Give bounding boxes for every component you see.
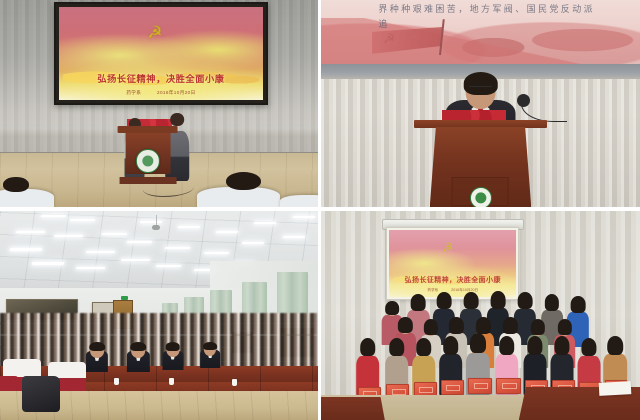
papers-on-desk	[598, 382, 631, 396]
group-member-hair	[558, 319, 572, 335]
ceiling-light	[283, 236, 306, 238]
group-member-hair	[491, 291, 506, 309]
group-member-hair	[607, 336, 623, 355]
podium	[421, 120, 539, 207]
group-member-hair	[449, 317, 463, 333]
slide-subtitle: 药学系 2016年10月20日	[71, 90, 250, 96]
ceiling-light	[101, 233, 127, 235]
group-member-hair	[470, 333, 486, 353]
group-member-hair	[503, 317, 517, 333]
photo-collage: ☭ 弘扬长征精神，决胜全面小康 药学系 2016年10月20日	[0, 0, 640, 420]
group-member-hair	[476, 317, 490, 333]
slide-organizer: 药学系	[126, 90, 141, 95]
foreground-head-right	[226, 172, 261, 190]
group-member-hair	[555, 336, 570, 355]
front-row-person	[200, 343, 220, 368]
group-member-hair	[582, 338, 597, 356]
group-member-hair	[518, 292, 533, 309]
projection-screen: ☭ 弘扬长征精神，决胜全面小康 药学系 2016年10月20日	[386, 227, 519, 300]
panel-auditorium-audience	[0, 211, 318, 420]
ceiling-projector	[149, 215, 162, 229]
group-member-hair	[411, 294, 426, 310]
ceiling-light	[9, 248, 42, 251]
ceiling-light	[127, 241, 153, 243]
hammer-sickle-icon: ☭	[383, 33, 395, 46]
ceiling-light	[178, 226, 201, 228]
slide-headline: 弘扬长征精神，决胜全面小康	[396, 275, 510, 285]
ceiling-light	[76, 267, 105, 269]
group-member-hair	[530, 319, 544, 335]
group-member-hair	[416, 338, 432, 356]
panel-speaker-close-up: ☭ ★ 界种种艰难困苦，地方军阀、国民党反动派 追	[321, 0, 640, 207]
paper-cup	[114, 378, 119, 385]
backpack	[22, 376, 60, 412]
slide-text-line-1: 界种种艰难困苦，地方军阀、国民党反动派	[378, 2, 640, 15]
slide-long-march: ☭ 弘扬长征精神，决胜全面小康 药学系 2016年10月20日	[59, 7, 263, 100]
foreground-seat-right	[197, 187, 280, 207]
seat-headrest	[3, 359, 41, 376]
exit-sign-icon	[121, 296, 129, 300]
foreground-audience	[0, 172, 318, 207]
foreground-head-left	[3, 177, 28, 192]
ceiling-light	[156, 265, 182, 267]
front-desk-left	[321, 397, 385, 420]
group-member-hair	[499, 336, 515, 355]
ceiling-light	[70, 219, 96, 221]
slide-headline: 弘扬长征精神，决胜全面小康	[71, 71, 250, 85]
ceiling-light	[254, 222, 277, 224]
slide-date: 2016年10月20日	[157, 90, 196, 95]
paper-cup	[232, 379, 237, 386]
group-member-hair	[398, 317, 412, 333]
front-row-person-hair	[165, 342, 180, 351]
group-member-hair	[389, 338, 405, 356]
group-member-hair	[424, 319, 438, 335]
foreground-seat-far-right	[280, 195, 318, 207]
group-member-hair	[527, 336, 542, 355]
speaker-hair	[464, 72, 498, 94]
slide-text-line-2: 追	[378, 17, 387, 30]
paper-cup	[169, 378, 174, 385]
group-member-hair	[360, 338, 376, 356]
hammer-sickle-icon: ☭	[143, 25, 167, 41]
podium-top	[414, 120, 546, 128]
group-member-hair	[443, 336, 459, 355]
group-member-hair	[545, 294, 559, 310]
ceiling-light	[120, 259, 149, 261]
ceiling-light	[165, 247, 191, 249]
panel-stage-wide-shot: ☭ 弘扬长征精神，决胜全面小康 药学系 2016年10月20日	[0, 0, 318, 207]
audience-row	[0, 323, 318, 335]
panel-award-group-photo: ☭ 弘扬长征精神，决胜全面小康 药学系 2016年10月20日	[321, 211, 640, 420]
group-member-hair	[570, 296, 585, 312]
slide-long-march: ☭ 弘扬长征精神，决胜全面小康 药学系 2016年10月20日	[389, 230, 516, 297]
group-member-hair	[385, 301, 399, 315]
slide-date: 2016年10月20日	[451, 288, 478, 292]
slide-mural: ☭ ★ 界种种艰难困苦，地方军阀、国民党反动派 追	[321, 0, 640, 64]
front-row-person-hair	[131, 342, 147, 352]
slide-organizer: 药学系	[427, 288, 438, 292]
award-certificate	[468, 378, 492, 393]
star-icon: ★	[410, 33, 417, 41]
ceiling-light	[16, 231, 45, 233]
school-crest-icon	[469, 187, 491, 207]
front-row-person-hair	[89, 342, 105, 352]
foreground-seat-left	[0, 189, 54, 207]
group-member-hair	[436, 292, 451, 309]
ceiling-light	[41, 215, 67, 217]
microphone	[522, 97, 567, 122]
front-row-person	[127, 343, 149, 372]
hammer-sickle-icon: ☭	[440, 242, 455, 253]
microphone-capsule	[517, 94, 530, 107]
award-certificate	[496, 378, 520, 393]
audience-row	[0, 335, 318, 348]
front-row-person-hair	[203, 342, 217, 351]
front-row-person	[162, 343, 183, 370]
eyeglasses-icon	[469, 86, 492, 91]
audience-row	[0, 347, 318, 361]
group-member-hair	[464, 292, 479, 309]
projection-screen: ☭ 弘扬长征精神，决胜全面小康 药学系 2016年10月20日	[54, 2, 268, 105]
mural-artwork	[321, 18, 640, 64]
award-certificate	[441, 380, 464, 395]
ceiling-light	[31, 262, 64, 265]
ceiling-light	[216, 231, 239, 233]
projector-body	[152, 225, 160, 230]
host-male-head	[170, 113, 184, 127]
front-row-person	[86, 343, 108, 372]
